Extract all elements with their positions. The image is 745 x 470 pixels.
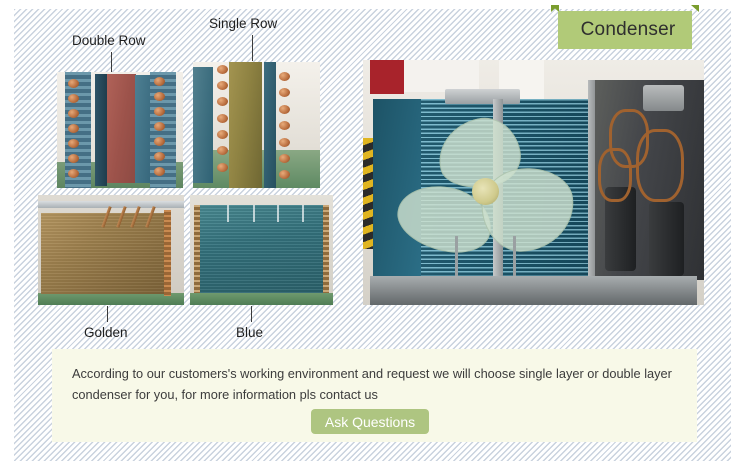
callout-label-blue: Blue — [236, 325, 263, 340]
condenser-coil-curved-end — [373, 99, 421, 275]
copper-tube-end — [217, 163, 228, 172]
single-row-coil-photo — [193, 62, 320, 188]
condenser-banner: Condenser — [551, 5, 699, 49]
photo-floor — [190, 293, 333, 305]
copper-pipe — [598, 148, 632, 202]
blue-condenser-photo — [190, 195, 333, 305]
unit-base-plate — [370, 276, 697, 305]
copper-tube-end — [154, 92, 165, 101]
callout-label-double-row: Double Row — [72, 33, 146, 48]
photo-highlight — [227, 205, 229, 223]
condenser-unit-with-fan-photo — [363, 60, 704, 305]
condenser-fin-edge — [164, 210, 171, 296]
callout-label-golden: Golden — [84, 325, 128, 340]
copper-tube-end — [154, 137, 165, 146]
leader-line-single-row — [252, 35, 253, 61]
banner-fold-right-icon — [691, 5, 699, 12]
coil-fin-dark — [95, 74, 107, 185]
info-panel: According to our customers's working env… — [52, 349, 697, 442]
callout-label-single-row: Single Row — [209, 16, 277, 31]
wall-sign-white — [404, 60, 479, 92]
copper-tube-end — [154, 122, 165, 131]
top-mounting-bracket — [445, 89, 520, 104]
compressor-cylinder-2 — [649, 202, 683, 276]
photo-floor — [38, 293, 184, 305]
condenser-face-blue — [197, 205, 323, 293]
copper-tube-end — [154, 152, 165, 161]
fan-support-leg — [513, 236, 516, 275]
fan-hub — [472, 178, 499, 205]
coil-slab-red — [102, 74, 136, 183]
photo-highlight — [277, 205, 279, 223]
info-paragraph: According to our customers's working env… — [72, 363, 672, 405]
copper-tube-end — [154, 107, 165, 116]
coil-slab-teal-left — [193, 67, 213, 183]
leader-line-golden — [107, 306, 108, 322]
copper-tube-end — [154, 77, 165, 86]
photo-highlight — [302, 205, 304, 223]
condenser-fin-edge-left — [194, 205, 200, 293]
copper-tube-end — [217, 114, 228, 123]
golden-condenser-photo — [38, 195, 184, 305]
leader-line-double-row — [111, 52, 112, 72]
copper-pipe — [636, 129, 684, 203]
wall-sign-red — [370, 60, 404, 94]
coil-slab-teal-right — [264, 62, 275, 188]
copper-tube-end — [217, 81, 228, 90]
double-row-coil-photo — [57, 72, 183, 188]
copper-tube-end — [279, 138, 290, 147]
condenser-fin-edge-right — [323, 205, 329, 293]
fan-support-leg — [455, 236, 458, 275]
ask-questions-button[interactable]: Ask Questions — [311, 409, 429, 434]
banner-title: Condenser — [558, 11, 692, 49]
product-detail-page: Condenser Double Row Single Row Golden B… — [0, 0, 745, 470]
photo-highlight — [253, 205, 255, 223]
copper-tube-end — [217, 65, 228, 74]
accumulator-canister — [643, 85, 684, 112]
leader-line-blue — [251, 306, 252, 322]
